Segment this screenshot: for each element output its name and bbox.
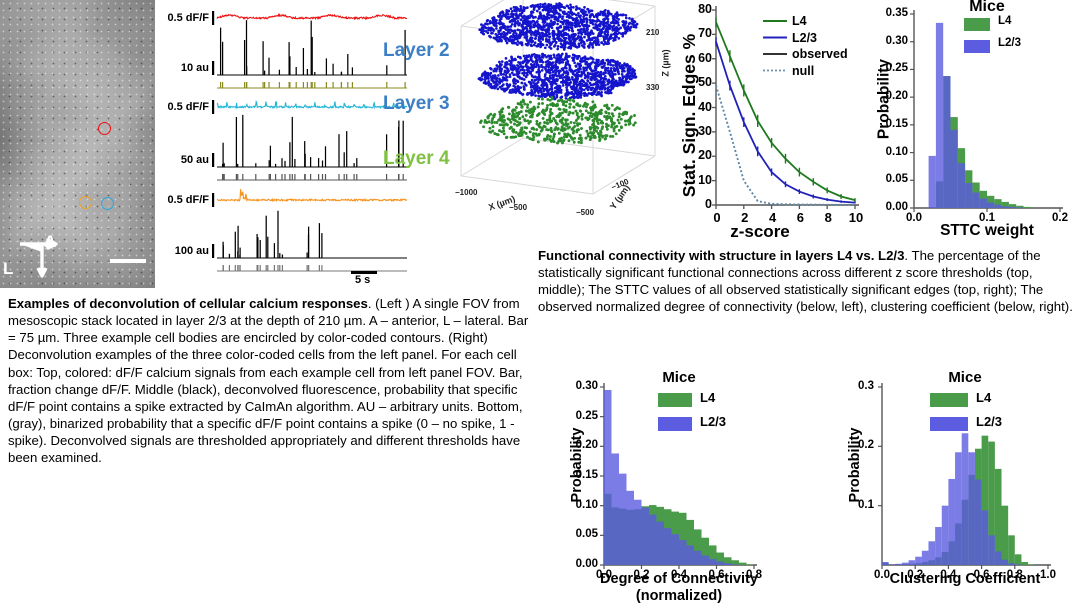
scale-bar [110,259,146,263]
sttc-weight-histogram-xlabel: STTC weight [877,222,1077,240]
zscore-legend-label-3: null [792,64,814,78]
clustering-coefficient-histogram-legend-swatch-0 [930,393,968,407]
cell-red-dff-label: 0.5 dF/F [155,12,209,24]
cell-orange-au-label: 100 au [155,245,209,257]
clustering-coefficient-chart: 0.10.20.30.00.20.40.60.81.0MiceProbabili… [830,365,1070,602]
cell-cyan-dff-trace [217,102,407,108]
degree-of-connectivity-histogram-title: Mice [639,369,719,386]
orientation-label-anterior: A [44,232,56,252]
cell-cyan-au-scalebar [212,153,214,167]
roi-red [98,122,111,135]
degree-connectivity-chart: 0.000.050.100.150.200.250.300.00.20.40.6… [548,365,778,602]
degree-of-connectivity-histogram-legend-label-0: L4 [700,390,715,405]
zscore-ylabel: Stat. Sign. Edges % [679,28,700,203]
roi-cyan [101,197,114,210]
cell-red-au-label: 10 au [155,62,209,74]
layer-label-4: Layer 4 [383,148,450,170]
orientation-marker-icon [12,234,68,282]
cell-orange-au-scalebar [212,244,214,258]
scatter3d-ztick-1: 330 [646,83,659,92]
cell-cyan-au-label: 50 au [155,154,209,166]
zscore-ytick: 80 [678,2,712,16]
orientation-label-lateral: L [3,259,13,279]
zscore-xlabel: z-score [710,222,810,242]
degree-of-connectivity-histogram-xlabel: Degree of Connectivity [569,571,789,587]
degree-of-connectivity-histogram-ylabel: Probability [569,390,585,540]
caption-left-title: Examples of deconvolution of cellular ca… [8,296,368,311]
cell-red-dff-scalebar [212,11,214,25]
zscore-legend-label-0: L4 [792,14,807,28]
scatter3d-cloud-2 [479,96,637,145]
clustering-coefficient-histogram-ylabel: Probability [847,390,863,540]
caption-right-title: Functional connectivity with structure i… [538,248,904,263]
time-scale-label: 5 s [355,274,370,286]
degree-of-connectivity-histogram-legend-swatch-0 [658,393,692,407]
caption-left: Examples of deconvolution of cellular ca… [8,295,535,467]
zscore-xtick: 8 [820,210,836,225]
deconvolution-traces-panel: 0.5 dF/F10 auLayer 20.5 dF/F50 auLayer 3… [155,0,445,290]
zscore-legend-label-1: L2/3 [792,31,817,45]
degree-of-connectivity-histogram-legend-label-1: L2/3 [700,414,726,429]
scatter3d-cloud-0 [478,2,638,51]
zscore-edges-chart: 010203040506070800246810Stat. Sign. Edge… [660,0,860,248]
sttc-weight-histogram-title: Mice [947,0,1027,16]
scatter3d-canvas [443,0,665,250]
layer-label-3: Layer 3 [383,93,450,115]
sttc-weight-histogram-legend-swatch-0 [964,18,990,31]
layer-label-2: Layer 2 [383,40,450,62]
scatter3d-ytick-1: −500 [576,208,594,217]
sttc-weight-chart: 0.000.050.100.150.200.250.300.350.00.10.… [862,0,1077,248]
zscore-series-L2/3 [716,42,855,203]
mesoscopic-fov-image: A L [0,0,155,288]
clustering-coefficient-histogram-legend-swatch-1 [930,417,968,431]
zscore-legend-label-2: observed [792,47,848,61]
clustering-plot-canvas [830,365,1070,602]
caption-right: Functional connectivity with structure i… [538,247,1077,316]
scatter3d-ztick-0: 210 [646,28,659,37]
roi-orange [79,196,92,209]
cell-orange-dff-trace [217,189,407,201]
degree-of-connectivity-histogram-legend-swatch-1 [658,417,692,431]
caption-left-body: . (Left ) A single FOV from mesoscopic s… [8,296,528,465]
sttc-weight-histogram-legend-label-1: L2/3 [998,37,1021,49]
cell-red-au-scalebar [212,61,214,75]
clustering-coefficient-histogram-legend-label-0: L4 [976,390,991,405]
clustering-coefficient-histogram-legend-label-1: L2/3 [976,414,1002,429]
cell-cyan-dff-scalebar [212,100,214,114]
cell-orange-dff-label: 0.5 dF/F [155,194,209,206]
cell-position-3d-scatter: −1000 −500 −100 −500 210 330 X (µm) Y (µ… [443,0,665,250]
clustering-coefficient-histogram-xlabel: Clustering Coefficient [855,571,1075,587]
cell-cyan-dff-label: 0.5 dF/F [155,101,209,113]
scatter3d-cloud-1 [478,52,638,100]
sttc-weight-histogram-ylabel: Probability [876,17,894,182]
cell-red-dff-trace [217,15,407,19]
scatter3d-xtick-0: −1000 [455,188,477,197]
sttc-weight-histogram-legend-label-0: L4 [998,15,1011,27]
degree-of-connectivity-histogram-xlabel2: (normalized) [569,588,789,604]
clustering-coefficient-histogram-title: Mice [925,369,1005,386]
cell-orange-dff-scalebar [212,193,214,207]
sttc-weight-histogram-legend-swatch-1 [964,40,990,53]
